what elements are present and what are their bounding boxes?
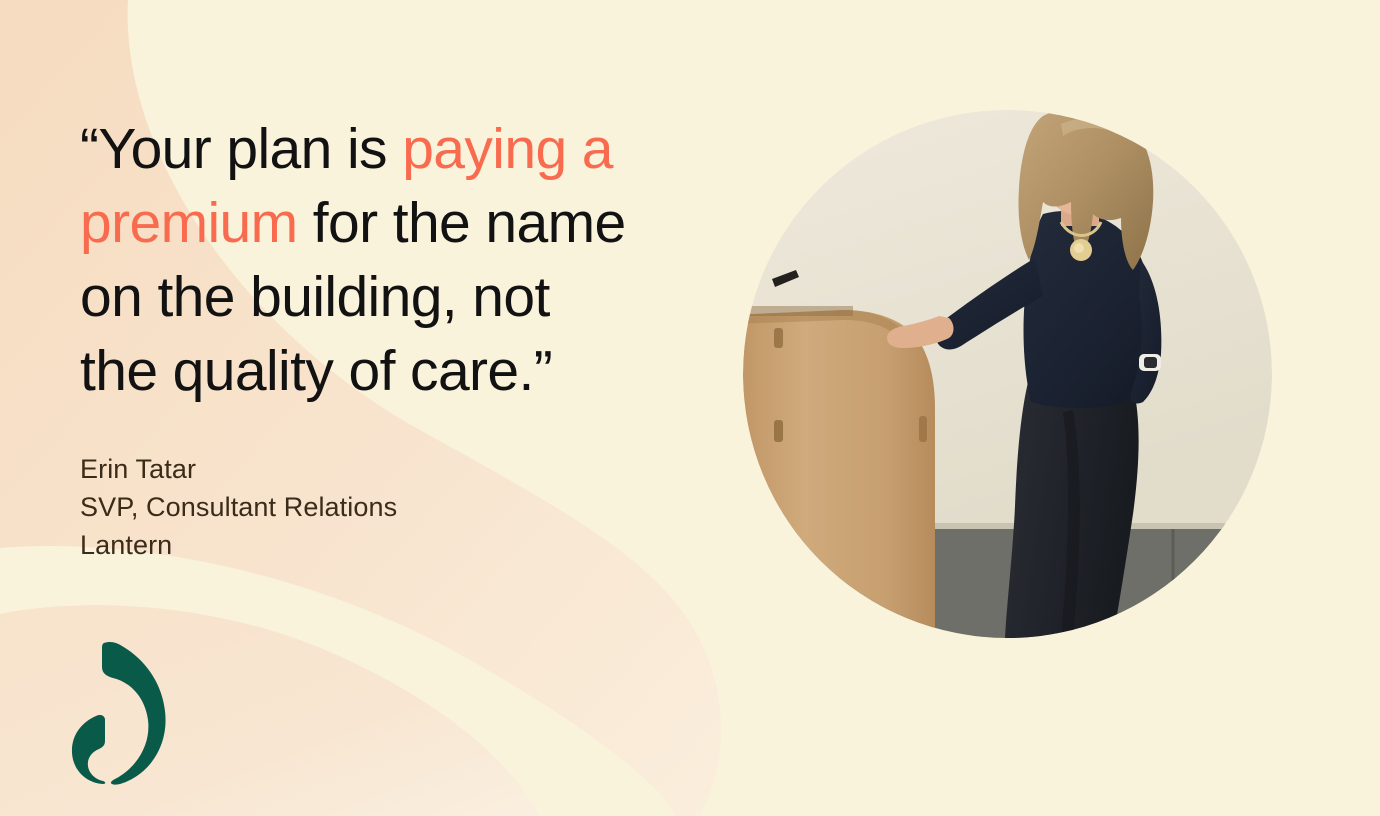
quote-line-1-highlight: paying a	[402, 117, 613, 181]
logo-inner-crescent	[72, 715, 105, 784]
quote-line-3: on the building, not	[80, 265, 550, 329]
quote-card: “Your plan is paying apremium for the na…	[0, 0, 1380, 816]
quote-line-1-plain: “Your plan is	[80, 117, 402, 181]
attribution-title: SVP, Consultant Relations	[80, 488, 640, 526]
attribution: Erin Tatar SVP, Consultant Relations Lan…	[80, 450, 640, 564]
quote-text: “Your plan is paying apremium for the na…	[80, 112, 720, 408]
lantern-flame-logo-icon	[66, 637, 178, 789]
quote-block: “Your plan is paying apremium for the na…	[80, 112, 720, 408]
portrait-illustration	[743, 110, 1272, 638]
quote-line-4: the quality of care.”	[80, 339, 552, 403]
attribution-company: Lantern	[80, 526, 640, 564]
quote-line-2-plain: for the name	[298, 191, 626, 255]
logo-svg	[66, 637, 178, 789]
quote-line-2-highlight: premium	[80, 191, 298, 255]
logo-outer-flame	[102, 642, 166, 785]
portrait-photo	[743, 110, 1272, 638]
attribution-name: Erin Tatar	[80, 450, 640, 488]
